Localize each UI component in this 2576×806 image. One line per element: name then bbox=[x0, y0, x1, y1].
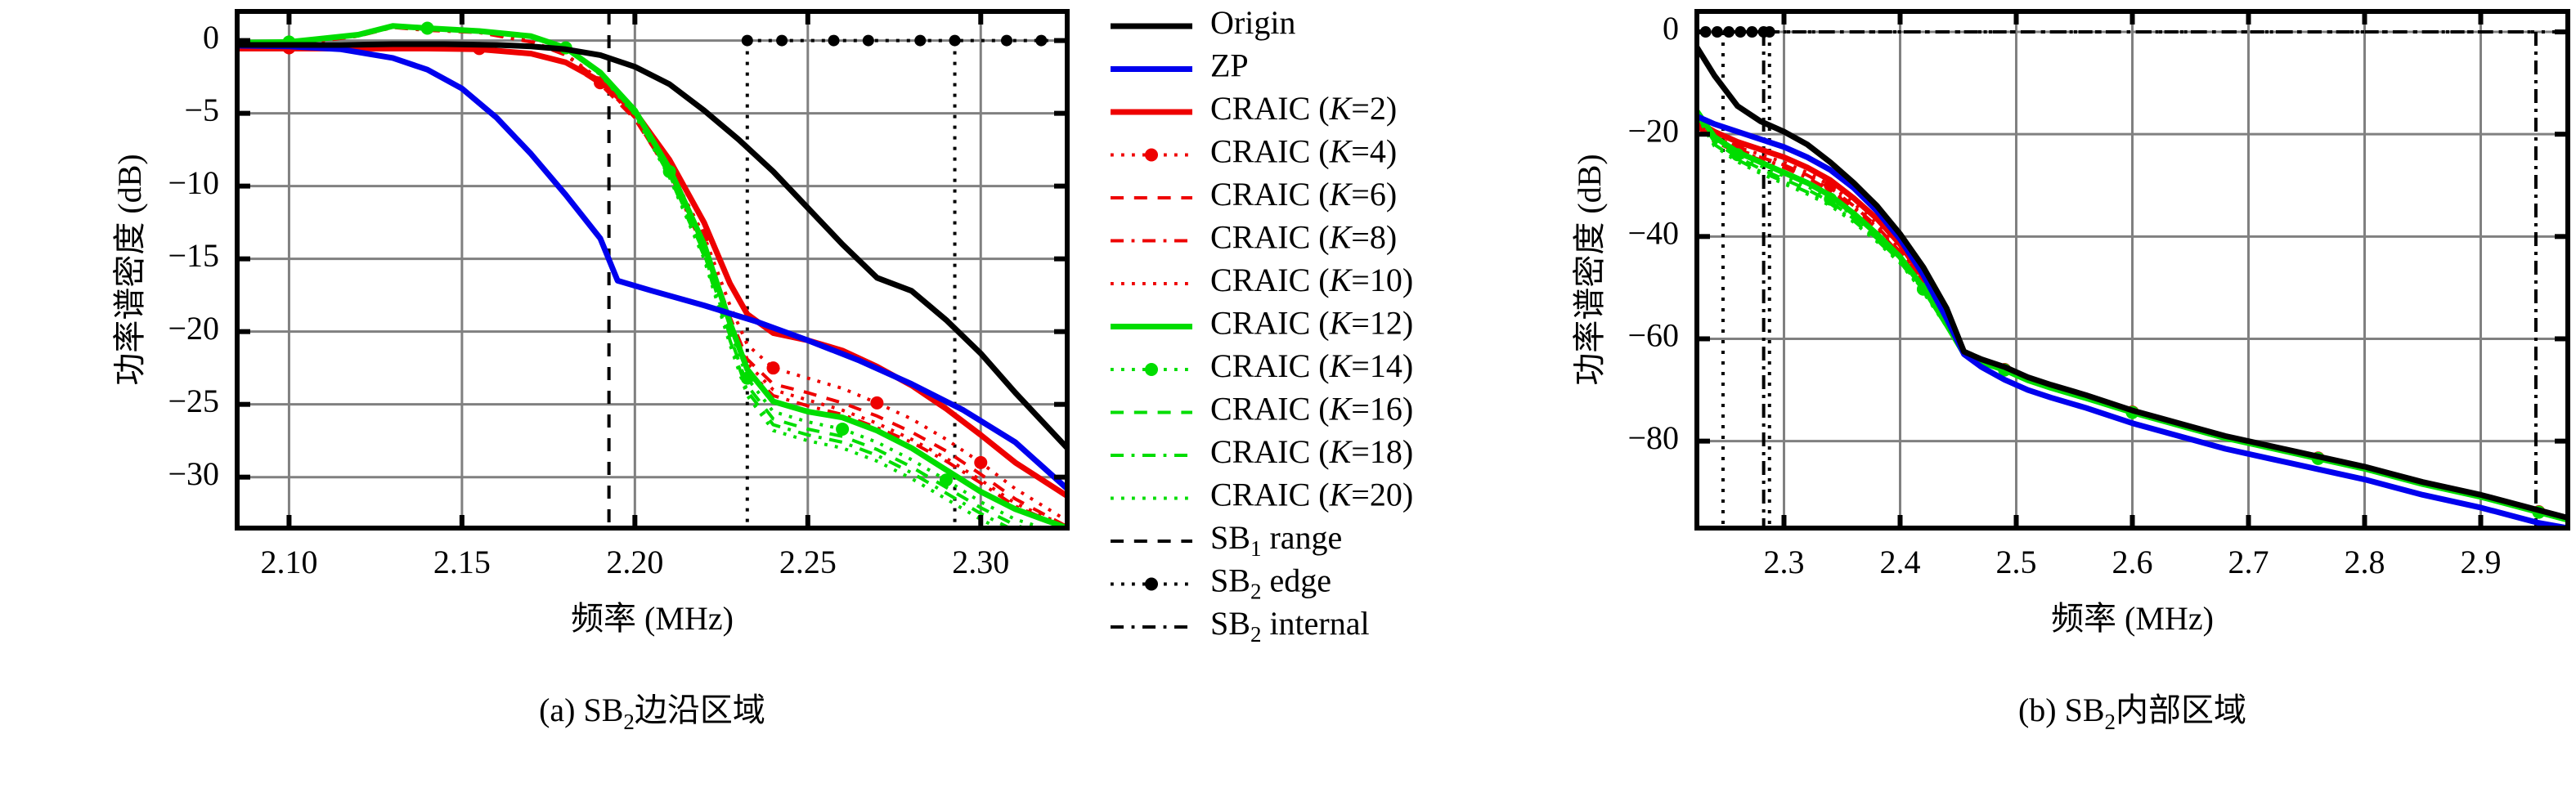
chart-panel_a: 0−5−10−15−20−25−302.102.152.202.252.30频率… bbox=[0, 0, 1096, 806]
y-tick-label: −5 bbox=[184, 92, 219, 128]
series-marker bbox=[974, 456, 987, 469]
legend-item-label: SB1 range bbox=[1210, 519, 1342, 561]
sb2-edge-marker bbox=[776, 35, 788, 47]
legend-item-label: CRAIC (K=12) bbox=[1210, 305, 1413, 342]
y-tick-label: 0 bbox=[203, 19, 219, 56]
x-tick-label: 2.20 bbox=[606, 544, 663, 580]
y-tick-label: 0 bbox=[1663, 10, 1679, 47]
x-tick-label: 2.7 bbox=[2228, 544, 2269, 580]
y-tick-label: −10 bbox=[168, 164, 219, 201]
sb2-edge-marker bbox=[1723, 26, 1735, 38]
legend-item[interactable]: SB2 edge bbox=[1111, 562, 1331, 604]
svg-text:(b) SB2内部区域: (b) SB2内部区域 bbox=[2018, 692, 2246, 734]
chart-panel_b: 0−20−40−60−802.32.42.52.62.72.82.9频率 (MH… bbox=[1521, 0, 2576, 806]
legend-item[interactable]: CRAIC (K=14) bbox=[1111, 347, 1413, 384]
y-tick-label: −20 bbox=[168, 310, 219, 347]
sb2-edge-marker bbox=[828, 35, 840, 47]
legend-item[interactable]: CRAIC (K=20) bbox=[1111, 477, 1413, 513]
sb2-edge-marker bbox=[863, 35, 874, 47]
x-tick-label: 2.5 bbox=[1996, 544, 2037, 580]
legend-marker-sample bbox=[1145, 149, 1158, 162]
legend-item[interactable]: ZP bbox=[1111, 47, 1249, 84]
legend-item-label: CRAIC (K=4) bbox=[1210, 133, 1397, 170]
series-marker bbox=[767, 361, 780, 374]
legend-marker-sample bbox=[1145, 578, 1158, 591]
svg-text:(a) SB2边沿区域: (a) SB2边沿区域 bbox=[539, 692, 765, 734]
y-axis-title: 功率谱密度 (dB) bbox=[1571, 154, 1608, 385]
subfigure-caption: (b) SB2内部区域 bbox=[2018, 692, 2246, 734]
legend-item-label: ZP bbox=[1210, 47, 1249, 84]
x-tick-label: 2.4 bbox=[1880, 544, 1921, 580]
legend: OriginZPCRAIC (K=2)CRAIC (K=4)CRAIC (K=6… bbox=[1096, 0, 1521, 806]
legend-item-label: CRAIC (K=6) bbox=[1210, 176, 1397, 213]
legend-item[interactable]: CRAIC (K=4) bbox=[1111, 133, 1397, 170]
sb2-edge-marker bbox=[949, 35, 961, 47]
legend-item[interactable]: SB2 internal bbox=[1111, 605, 1370, 647]
legend-item-label: SB2 edge bbox=[1210, 562, 1331, 604]
legend-item-label: CRAIC (K=8) bbox=[1210, 219, 1397, 256]
y-tick-label: −20 bbox=[1627, 112, 1679, 149]
series-marker bbox=[870, 396, 883, 410]
subfigure-b: 0−20−40−60−802.32.42.52.62.72.82.9频率 (MH… bbox=[1521, 0, 2576, 806]
x-axis-title: 频率 (MHz) bbox=[2051, 600, 2214, 637]
legend-item[interactable]: CRAIC (K=12) bbox=[1111, 305, 1413, 342]
sb2-edge-marker bbox=[914, 35, 926, 47]
legend-item-label: CRAIC (K=18) bbox=[1210, 433, 1413, 470]
sb2-edge-marker bbox=[742, 35, 753, 47]
y-tick-label: −80 bbox=[1627, 419, 1679, 456]
svg-text:功率谱密度 (dB): 功率谱密度 (dB) bbox=[111, 154, 148, 385]
legend-item[interactable]: CRAIC (K=8) bbox=[1111, 219, 1397, 256]
y-tick-label: −25 bbox=[168, 383, 219, 419]
x-tick-label: 2.30 bbox=[952, 544, 1009, 580]
x-tick-label: 2.25 bbox=[779, 544, 837, 580]
legend-item[interactable]: CRAIC (K=10) bbox=[1111, 262, 1413, 298]
x-axis-title: 频率 (MHz) bbox=[571, 600, 734, 637]
x-tick-label: 2.6 bbox=[2112, 544, 2153, 580]
legend-item-label: CRAIC (K=16) bbox=[1210, 391, 1413, 428]
y-tick-label: −30 bbox=[168, 455, 219, 492]
legend-item-label: CRAIC (K=14) bbox=[1210, 347, 1413, 384]
legend-item-label: CRAIC (K=2) bbox=[1210, 90, 1397, 127]
legend-item-label: Origin bbox=[1210, 4, 1295, 41]
series-marker bbox=[1061, 529, 1074, 542]
legend-item-label: SB2 internal bbox=[1210, 605, 1370, 647]
subfigure-a: 0−5−10−15−20−25−302.102.152.202.252.30频率… bbox=[0, 0, 1096, 806]
sb2-edge-marker bbox=[1712, 26, 1723, 38]
legend-item[interactable]: CRAIC (K=16) bbox=[1111, 391, 1413, 428]
legend-item[interactable]: CRAIC (K=6) bbox=[1111, 176, 1397, 213]
legend-item[interactable]: CRAIC (K=2) bbox=[1111, 90, 1397, 127]
x-tick-label: 2.9 bbox=[2461, 544, 2502, 580]
x-tick-label: 2.10 bbox=[260, 544, 317, 580]
sb2-edge-marker bbox=[1001, 35, 1012, 47]
sb2-edge-marker bbox=[1035, 35, 1047, 47]
svg-text:功率谱密度 (dB): 功率谱密度 (dB) bbox=[1571, 154, 1608, 385]
series-marker bbox=[836, 423, 849, 436]
legend-item[interactable]: CRAIC (K=18) bbox=[1111, 433, 1413, 470]
x-tick-label: 2.15 bbox=[433, 544, 491, 580]
sb2-edge-marker bbox=[1735, 26, 1746, 38]
figure-root: 0−5−10−15−20−25−302.102.152.202.252.30频率… bbox=[0, 0, 2576, 806]
legend-item-label: CRAIC (K=20) bbox=[1210, 477, 1413, 513]
legend-item[interactable]: Origin bbox=[1111, 4, 1295, 41]
y-tick-label: −60 bbox=[1627, 317, 1679, 354]
sb2-edge-marker bbox=[1746, 26, 1757, 38]
y-tick-label: −15 bbox=[168, 237, 219, 274]
legend-marker-sample bbox=[1145, 363, 1158, 376]
x-tick-label: 2.8 bbox=[2345, 544, 2385, 580]
legend-item-label: CRAIC (K=10) bbox=[1210, 262, 1413, 298]
y-axis-title: 功率谱密度 (dB) bbox=[111, 154, 148, 385]
legend-item[interactable]: SB1 range bbox=[1111, 519, 1342, 561]
x-tick-label: 2.3 bbox=[1764, 544, 1805, 580]
subfigure-caption: (a) SB2边沿区域 bbox=[539, 692, 765, 734]
y-tick-label: −40 bbox=[1627, 214, 1679, 251]
legend-panel: OriginZPCRAIC (K=2)CRAIC (K=4)CRAIC (K=6… bbox=[1096, 0, 1521, 806]
